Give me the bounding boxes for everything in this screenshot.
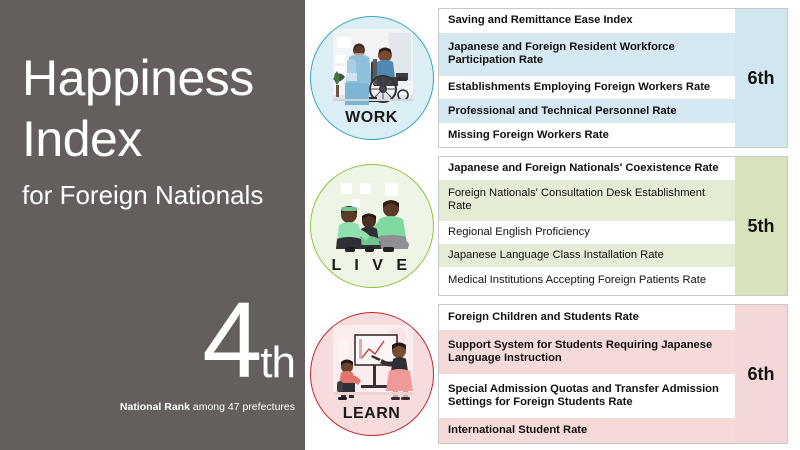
live-circle: L I V E (310, 164, 434, 288)
work-rank: 6th (735, 9, 787, 147)
section-live: L I V E Japanese and Foreign Nationals' … (305, 152, 800, 300)
title-block: Happiness Index for Foreign Nationals (22, 48, 307, 212)
table-row: Foreign Nationals' Consultation Desk Est… (439, 180, 735, 221)
section-work: WORK Saving and Remittance Ease Index Ja… (305, 4, 800, 152)
table-row: Foreign Children and Students Rate (439, 305, 735, 330)
table-row: Special Admission Quotas and Transfer Ad… (439, 374, 735, 418)
table-row: Saving and Remittance Ease Index (439, 9, 735, 33)
work-label: WORK (345, 109, 398, 127)
table-row: Japanese Language Class Installation Rat… (439, 244, 735, 267)
work-icon-wrap: WORK (305, 4, 438, 152)
rank-caption-rest: among 47 prefectures (190, 401, 295, 413)
work-rows: Saving and Remittance Ease Index Japanes… (439, 9, 735, 147)
healthcare-worker-wheelchair-icon (311, 29, 434, 111)
table-row: Medical Institutions Accepting Foreign P… (439, 267, 735, 295)
title-line-1: Happiness (22, 48, 307, 109)
national-rank-value: 4th (0, 290, 295, 390)
table-row: Japanese and Foreign Resident Workforce … (439, 33, 735, 76)
table-row: Japanese and Foreign Nationals' Coexiste… (439, 157, 735, 180)
table-row: Establishments Employing Foreign Workers… (439, 76, 735, 100)
live-label: L I V E (331, 257, 411, 275)
learn-rank: 6th (735, 305, 787, 443)
learn-rows: Foreign Children and Students Rate Suppo… (439, 305, 735, 443)
infographic-root: Happiness Index for Foreign Nationals 4t… (0, 0, 800, 450)
categories-panel: WORK Saving and Remittance Ease Index Ja… (305, 0, 800, 450)
learn-table: Foreign Children and Students Rate Suppo… (438, 304, 788, 444)
rank-number: 4 (202, 279, 260, 400)
section-learn: LEARN Foreign Children and Students Rate… (305, 300, 800, 448)
work-circle: WORK (310, 16, 434, 140)
live-rank: 5th (735, 157, 787, 295)
title-line-2: Index (22, 109, 307, 170)
table-row: Support System for Students Requiring Ja… (439, 330, 735, 374)
learn-label: LEARN (343, 405, 401, 423)
rank-caption-bold: National Rank (120, 401, 190, 413)
table-row: International Student Rate (439, 418, 735, 443)
work-table: Saving and Remittance Ease Index Japanes… (438, 8, 788, 148)
live-icon-wrap: L I V E (305, 152, 438, 300)
live-rows: Japanese and Foreign Nationals' Coexiste… (439, 157, 735, 295)
teacher-whiteboard-student-icon (311, 325, 434, 407)
subtitle: for Foreign Nationals (22, 178, 307, 212)
rank-suffix: th (260, 338, 295, 387)
live-table: Japanese and Foreign Nationals' Coexiste… (438, 156, 788, 296)
learn-icon-wrap: LEARN (305, 300, 438, 448)
rank-caption: National Rank among 47 prefectures (0, 400, 295, 414)
table-row: Regional English Proficiency (439, 221, 735, 244)
family-sitting-icon (311, 177, 434, 259)
table-row: Professional and Technical Personnel Rat… (439, 99, 735, 123)
table-row: Missing Foreign Workers Rate (439, 123, 735, 147)
title-panel: Happiness Index for Foreign Nationals 4t… (0, 0, 305, 450)
learn-circle: LEARN (310, 312, 434, 436)
